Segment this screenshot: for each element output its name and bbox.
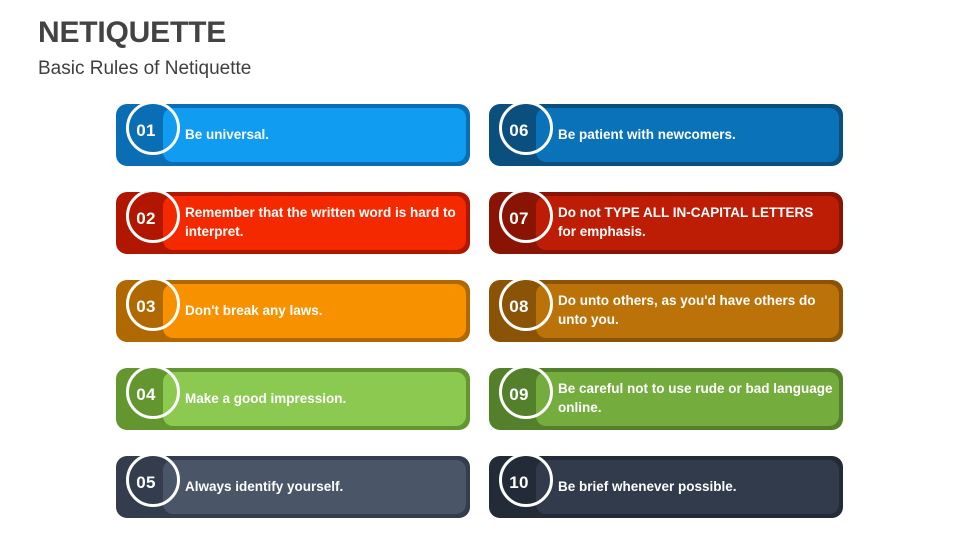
rule-number-label: 05 <box>120 456 172 510</box>
rule-text: Do unto others, as you'd have others do … <box>558 284 833 338</box>
rule-number-label: 03 <box>120 280 172 334</box>
rule-number-label: 08 <box>493 280 545 334</box>
rule-card-09[interactable]: 09Be careful not to use rude or bad lang… <box>489 368 843 430</box>
rule-card-03[interactable]: 03Don't break any laws. <box>116 280 470 342</box>
rule-card-10[interactable]: 10Be brief whenever possible. <box>489 456 843 518</box>
rule-text: Make a good impression. <box>185 372 460 426</box>
rule-text: Be careful not to use rude or bad langua… <box>558 372 833 426</box>
rule-card-02[interactable]: 02Remember that the written word is hard… <box>116 192 470 254</box>
rule-card-05[interactable]: 05Always identify yourself. <box>116 456 470 518</box>
rule-number-label: 06 <box>493 104 545 158</box>
rule-number-label: 01 <box>120 104 172 158</box>
rule-card-08[interactable]: 08Do unto others, as you'd have others d… <box>489 280 843 342</box>
rule-text: Don't break any laws. <box>185 284 460 338</box>
rule-number-label: 10 <box>493 456 545 510</box>
rule-card-01[interactable]: 01Be universal. <box>116 104 470 166</box>
rule-card-07[interactable]: 07Do not TYPE ALL IN-CAPITAL LETTERS for… <box>489 192 843 254</box>
rule-text: Do not TYPE ALL IN-CAPITAL LETTERS for e… <box>558 196 833 250</box>
rule-text: Always identify yourself. <box>185 460 460 514</box>
rule-number-label: 04 <box>120 368 172 422</box>
rule-card-04[interactable]: 04Make a good impression. <box>116 368 470 430</box>
rule-text: Remember that the written word is hard t… <box>185 196 460 250</box>
rule-text: Be patient with newcomers. <box>558 108 833 162</box>
rules-grid: 01Be universal.02Remember that the writt… <box>0 0 960 540</box>
rule-number-label: 09 <box>493 368 545 422</box>
rule-text: Be universal. <box>185 108 460 162</box>
rule-card-06[interactable]: 06Be patient with newcomers. <box>489 104 843 166</box>
rule-number-label: 07 <box>493 192 545 246</box>
rule-text: Be brief whenever possible. <box>558 460 833 514</box>
rule-number-label: 02 <box>120 192 172 246</box>
